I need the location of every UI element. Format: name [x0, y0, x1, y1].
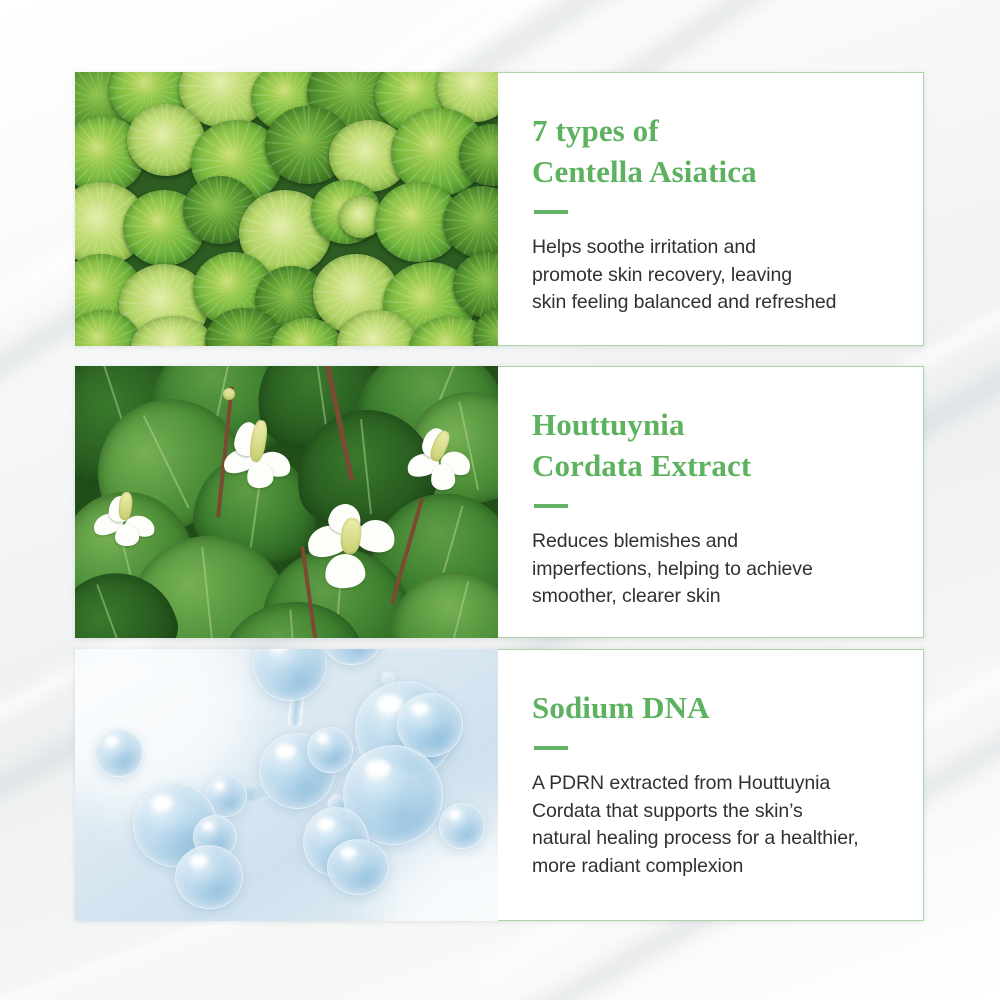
card-title: Sodium DNA	[532, 688, 887, 729]
houttuynia-flower	[93, 494, 165, 550]
ingredient-card-sodium-dna[interactable]: Sodium DNA A PDRN extracted from Houttuy…	[75, 649, 924, 921]
title-divider-rule	[534, 746, 568, 750]
card-title: 7 types of Centella Asiatica	[532, 111, 887, 193]
card-description: A PDRN extracted from Houttuynia Cordata…	[532, 770, 887, 881]
sodium-dna-molecule-bubbles-photo	[75, 649, 498, 921]
card-body-centella: 7 types of Centella Asiatica Helps sooth…	[498, 72, 924, 346]
title-divider-rule	[534, 210, 568, 214]
ingredient-card-houttuynia[interactable]: Houttuynia Cordata Extract Reduces blemi…	[75, 366, 924, 638]
ingredient-infographic-page: 7 types of Centella Asiatica Helps sooth…	[0, 0, 1000, 1000]
card-title: Houttuynia Cordata Extract	[532, 405, 887, 487]
card-body-houttuynia: Houttuynia Cordata Extract Reduces blemi…	[498, 366, 924, 638]
card-description: Helps soothe irritation and promote skin…	[532, 234, 887, 317]
card-description: Reduces blemishes and imperfections, hel…	[532, 528, 887, 611]
houttuynia-flower	[407, 428, 479, 490]
title-divider-rule	[534, 504, 568, 508]
houttuynia-cordata-photo	[75, 366, 498, 638]
centella-asiatica-leaves-photo	[75, 72, 498, 346]
card-body-sodium-dna: Sodium DNA A PDRN extracted from Houttuy…	[498, 649, 924, 921]
houttuynia-flower	[221, 422, 299, 486]
houttuynia-flower	[307, 504, 399, 590]
ingredient-card-centella[interactable]: 7 types of Centella Asiatica Helps sooth…	[75, 72, 924, 346]
ingredient-card-list: 7 types of Centella Asiatica Helps sooth…	[0, 0, 1000, 1000]
